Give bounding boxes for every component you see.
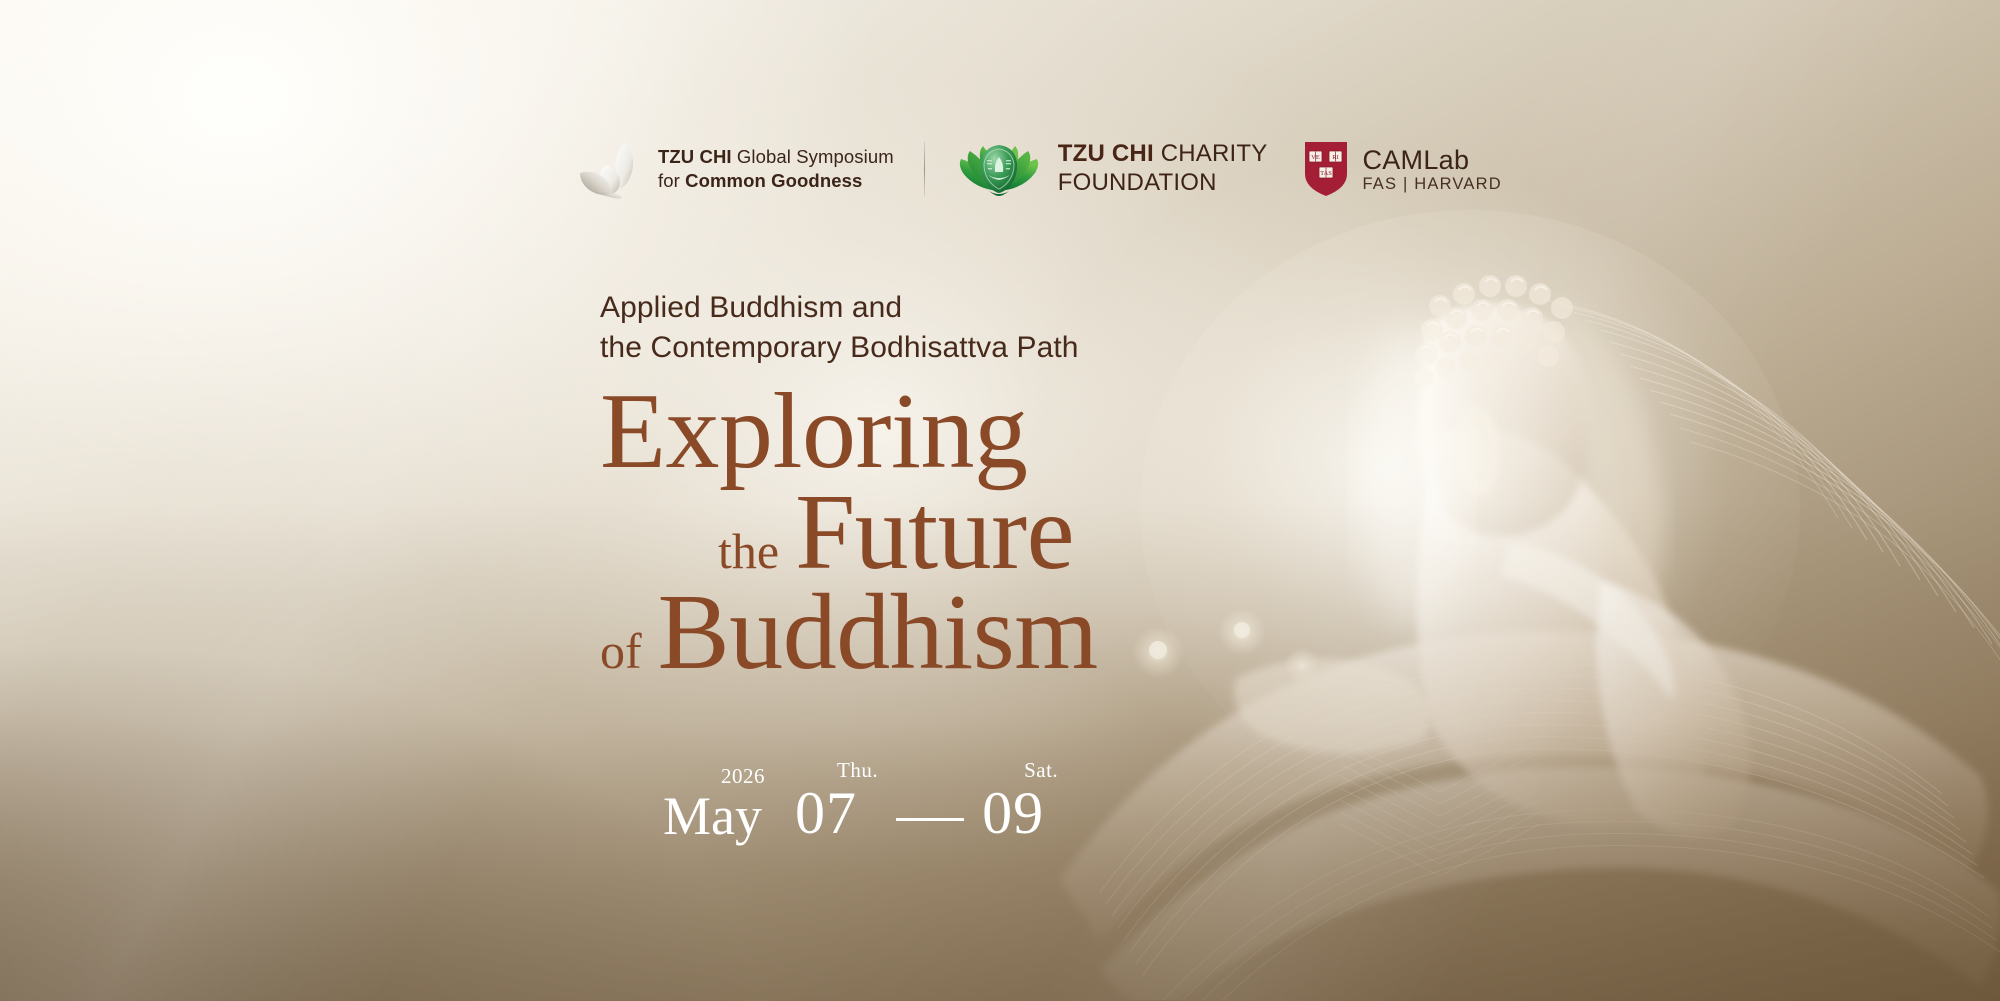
charity-line1-bold: TZU CHI [1058,140,1154,167]
subtitle-line-2: the Contemporary Bodhisattva Path [600,328,1098,368]
symposium-line2-bold: Common Goodness [685,170,862,191]
symposium-line1-rest: Global Symposium [732,146,894,167]
subtitle-line-1: Applied Buddhism and [600,288,1098,328]
date-year: 2026 [721,766,765,787]
date-end-group: Sat. 09 [982,760,1058,843]
date-range-dash [896,818,964,821]
logo-divider [924,141,925,197]
date-start-weekday: Thu. [837,760,878,781]
title-line-exploring: Exploring [600,380,1098,485]
date-start-group: Thu. 07 [795,760,878,843]
partner-logo-band: TZU CHI Global Symposium for Common Good… [578,138,1502,200]
headline-block: Applied Buddhism and the Contemporary Bo… [600,288,1098,686]
title-word-the: the [718,526,795,576]
title-word-future: Future [795,481,1074,586]
title-line-future: the Future [600,481,1098,586]
title-line-buddhism: of Buddhism [600,581,1098,686]
tzu-chi-lotus-emblem-icon [955,139,1043,199]
date-start-day: 07 [795,783,857,843]
symposium-line2-rest: for [658,170,685,191]
camlab-logo-text: CAMLab FAS | HARVARD [1362,145,1501,194]
title-word-of: of [600,626,658,676]
event-date: 2026 May Thu. 07 Sat. 09 [663,760,1058,843]
charity-logo-text: TZU CHI CHARITY FOUNDATION [1058,140,1268,198]
symposium-logo-text: TZU CHI Global Symposium for Common Good… [658,145,894,192]
date-end-weekday: Sat. [1024,760,1058,781]
lotus-petals-icon [578,139,646,199]
camlab-line1: CAMLab [1362,145,1501,175]
title-word-exploring: Exploring [600,380,1027,485]
logo-tzu-chi-global-symposium[interactable]: TZU CHI Global Symposium for Common Good… [578,139,894,199]
charity-line2: FOUNDATION [1058,169,1268,198]
title-word-buddhism: Buddhism [658,581,1098,686]
date-end-day: 09 [982,783,1044,843]
date-month: May [663,789,762,843]
camlab-line2: FAS | HARVARD [1362,175,1501,193]
event-subtitle: Applied Buddhism and the Contemporary Bo… [600,288,1098,368]
date-month-group: 2026 May [663,766,765,843]
charity-line1-rest: CHARITY [1154,140,1268,167]
poster-canvas: TZU CHI Global Symposium for Common Good… [0,0,2000,1001]
symposium-line1-bold: TZU CHI [658,146,732,167]
logo-camlab-harvard[interactable]: VE RI TAS CAMLab FAS | HARVARD [1303,140,1501,198]
harvard-shield-icon: VE RI TAS [1303,140,1349,198]
logo-tzu-chi-charity-foundation[interactable]: TZU CHI CHARITY FOUNDATION [955,139,1268,199]
event-title: Exploring the Future of Buddhism [600,380,1098,686]
